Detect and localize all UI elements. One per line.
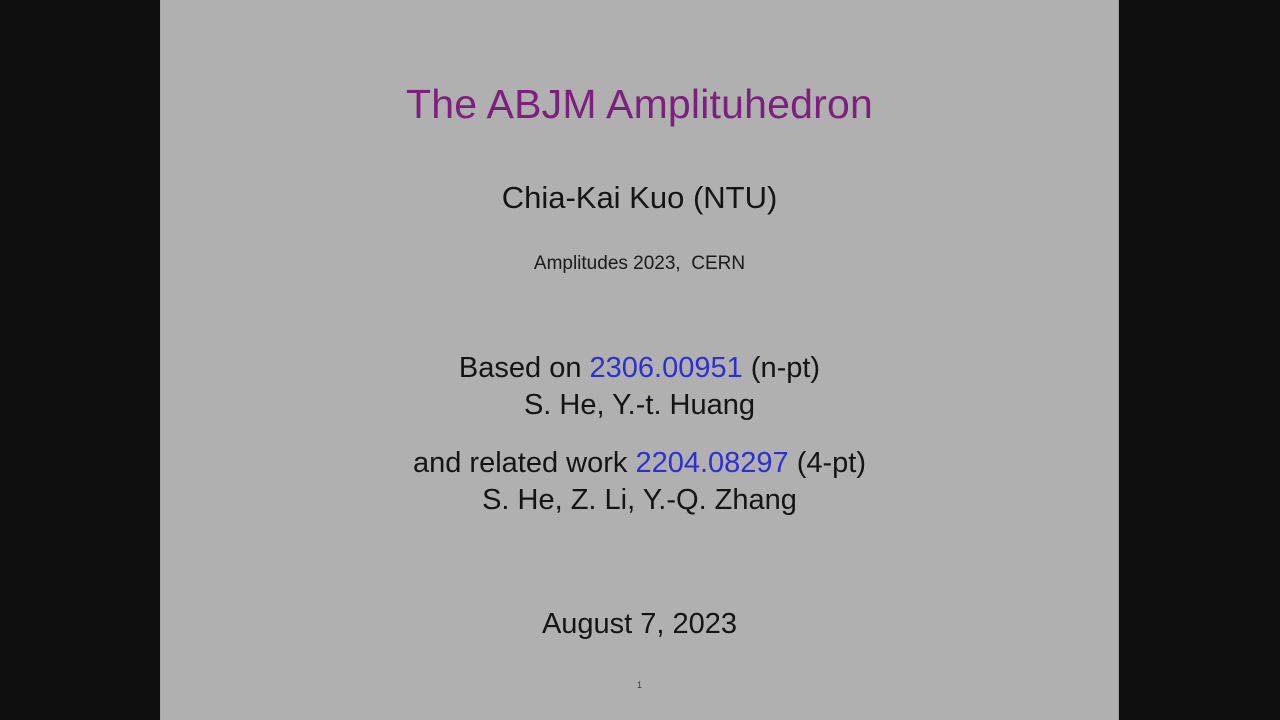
reference-primary-lead-text: Based on	[459, 352, 590, 384]
slide-date: August 7, 2023	[161, 608, 1118, 641]
letterbox-bar-right	[1119, 0, 1280, 720]
reference-related-trailing-text: (4-pt)	[789, 447, 866, 479]
video-player-viewport: The ABJM Amplituhedron Chia-Kai Kuo (NTU…	[0, 0, 1280, 720]
reference-primary-citation-line: Based on 2306.00951 (n-pt)	[161, 350, 1118, 387]
reference-primary: Based on 2306.00951 (n-pt) S. He, Y.-t. …	[161, 350, 1118, 424]
reference-related: and related work 2204.08297 (4-pt) S. He…	[161, 445, 1118, 519]
reference-related-authors: S. He, Z. Li, Y.-Q. Zhang	[161, 482, 1118, 519]
reference-related-lead-text: and related work	[413, 447, 635, 479]
slide-page-number: 1	[161, 681, 1118, 690]
arxiv-link-2204-08297[interactable]: 2204.08297	[635, 447, 788, 479]
reference-primary-authors: S. He, Y.-t. Huang	[161, 387, 1118, 424]
arxiv-link-2306-00951[interactable]: 2306.00951	[590, 352, 743, 384]
letterbox-bar-left	[0, 0, 160, 720]
reference-primary-trailing-text: (n-pt)	[743, 352, 820, 384]
reference-related-citation-line: and related work 2204.08297 (4-pt)	[161, 445, 1118, 482]
slide-title: The ABJM Amplituhedron	[161, 82, 1118, 127]
conference-venue: Amplitudes 2023, CERN	[161, 253, 1118, 275]
presentation-slide: The ABJM Amplituhedron Chia-Kai Kuo (NTU…	[160, 0, 1119, 720]
speaker-name: Chia-Kai Kuo (NTU)	[161, 180, 1118, 216]
